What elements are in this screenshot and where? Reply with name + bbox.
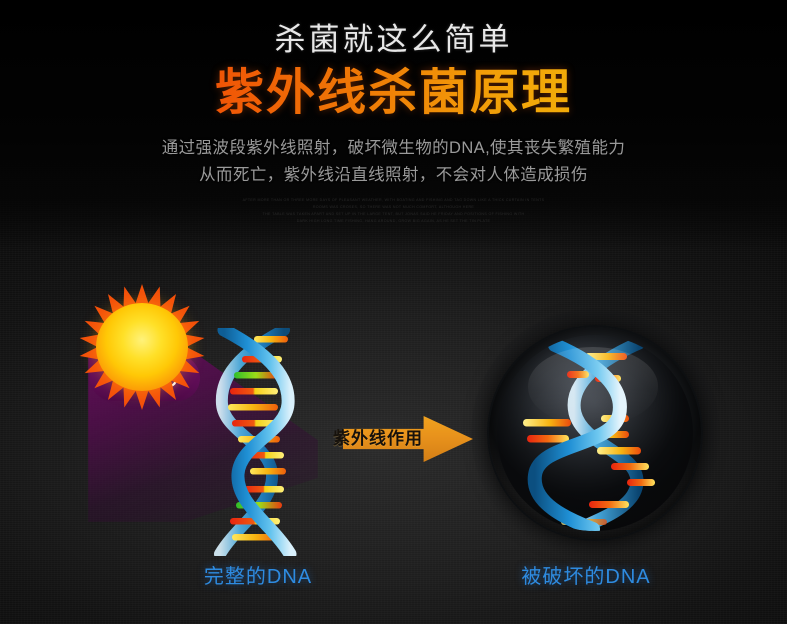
- fine-print-block: AFTER MORE THAN OR THREE MORE DAYS OF PL…: [114, 197, 674, 225]
- subheading: 杀菌就这么简单: [0, 22, 787, 58]
- description-line-2: 从而死亡，紫外线沿直线照射，不会对人体造成损伤: [0, 162, 787, 190]
- sun-core: [96, 303, 188, 391]
- sun-icon: [83, 291, 201, 403]
- sphere-glass-body: [497, 335, 693, 531]
- description-block: 通过强波段紫外线照射，破坏微生物的DNA,使其丧失繁殖能力 从而死亡，紫外线沿直…: [0, 135, 787, 190]
- arrow-label: 紫外线作用: [333, 424, 433, 449]
- poster-canvas: 杀菌就这么简单 紫外线杀菌原理 通过强波段紫外线照射，破坏微生物的DNA,使其丧…: [0, 0, 787, 624]
- damaged-dna-sphere: [487, 325, 703, 541]
- header-block: 杀菌就这么简单 紫外线杀菌原理 通过强波段紫外线照射，破坏微生物的DNA,使其丧…: [0, 22, 787, 225]
- description-line-1: 通过强波段紫外线照射，破坏微生物的DNA,使其丧失繁殖能力: [0, 135, 787, 163]
- caption-intact-dna: 完整的DNA: [196, 560, 320, 589]
- caption-damaged-dna: 被破坏的DNA: [510, 560, 662, 589]
- fine-print-line-1: AFTER MORE THAN OR THREE MORE DAYS OF PL…: [114, 197, 674, 204]
- fine-print-line-4: DARK HIGH LONG TIME FISHING, HANG AROUND…: [231, 218, 556, 225]
- fine-print-line-2: ROOMS WAS CROSES, SO THERE WAS NOT MUCH …: [153, 204, 635, 211]
- page-title: 紫外线杀菌原理: [0, 66, 787, 121]
- fine-print-line-3: THE TABLE WAS TAKEN APART AND SET UP IN …: [192, 211, 595, 218]
- intact-dna-illustration: [198, 328, 314, 556]
- process-arrow-group: 紫外线作用: [333, 406, 473, 472]
